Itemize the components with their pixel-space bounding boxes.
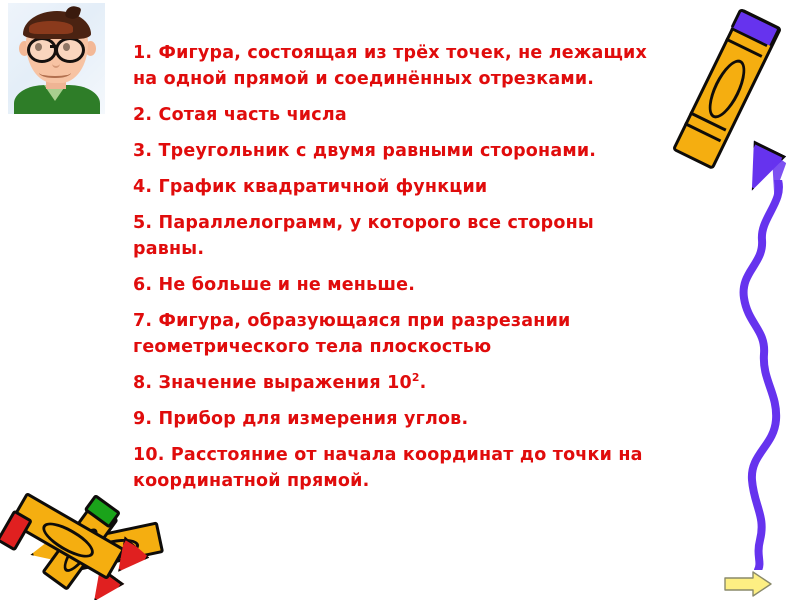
list-item: 3. Треугольник с двумя равными сторонами…: [133, 138, 663, 164]
list-item-number: 6.: [133, 275, 152, 295]
list-item: 4. График квадратичной функции: [133, 174, 663, 200]
list-item-text: Треугольник с двумя равными сторонами.: [159, 141, 597, 161]
list-item-text: График квадратичной функции: [159, 177, 488, 197]
list-item: 7. Фигура, образующаяся при разрезании г…: [133, 308, 663, 360]
list-item-number: 10.: [133, 445, 165, 465]
list-item-number: 3.: [133, 141, 152, 161]
list-item-text: Фигура, образующаяся при разрезании геом…: [133, 311, 571, 357]
question-list: 1. Фигура, состоящая из трёх точек, не л…: [133, 40, 663, 504]
crayons-bottom-left: [8, 480, 158, 590]
avatar-hair: [23, 11, 91, 39]
list-item-number: 2.: [133, 105, 152, 125]
crayon-top-right: [668, 4, 788, 199]
glasses-bridge-icon: [50, 45, 56, 48]
next-arrow[interactable]: [723, 570, 773, 598]
list-item: 10. Расстояние от начала координат до то…: [133, 442, 663, 494]
list-item: 9. Прибор для измерения углов.: [133, 406, 663, 432]
list-item-number: 7.: [133, 311, 152, 331]
avatar-mouth: [39, 67, 71, 78]
list-item-number: 8.: [133, 373, 152, 393]
list-item-superscript: 2: [412, 371, 420, 384]
slide-canvas: 1. Фигура, состоящая из трёх точек, не л…: [0, 0, 800, 600]
arrow-shape[interactable]: [725, 572, 771, 596]
list-item-text: Не больше и не меньше.: [159, 275, 416, 295]
list-item-number: 9.: [133, 409, 152, 429]
list-item-text: Фигура, состоящая из трёх точек, не лежа…: [133, 43, 647, 89]
list-item: 6. Не больше и не меньше.: [133, 272, 663, 298]
purple-squiggle-line: [700, 180, 800, 570]
list-item-number: 5.: [133, 213, 152, 233]
list-item-text: Значение выражения 10: [159, 373, 412, 393]
list-item: 2. Сотая часть числа: [133, 102, 663, 128]
glasses-lens-left-icon: [27, 37, 57, 63]
avatar: [8, 3, 105, 114]
list-item: 1. Фигура, состоящая из трёх точек, не л…: [133, 40, 663, 92]
list-item-text: Параллелограмм, у которого все стороны р…: [133, 213, 594, 259]
list-item: 8. Значение выражения 102.: [133, 370, 663, 396]
list-item-text: Расстояние от начала координат до точки …: [133, 445, 643, 491]
list-item-number: 4.: [133, 177, 152, 197]
list-item-text: Сотая часть числа: [159, 105, 347, 125]
list-item-text: Прибор для измерения углов.: [159, 409, 469, 429]
avatar-nose: [52, 59, 60, 68]
list-item-suffix: .: [420, 373, 427, 393]
glasses-lens-right-icon: [55, 37, 85, 63]
list-item: 5. Параллелограмм, у которого все сторон…: [133, 210, 663, 262]
list-item-number: 1.: [133, 43, 152, 63]
crayon-label-oval: [701, 55, 752, 124]
